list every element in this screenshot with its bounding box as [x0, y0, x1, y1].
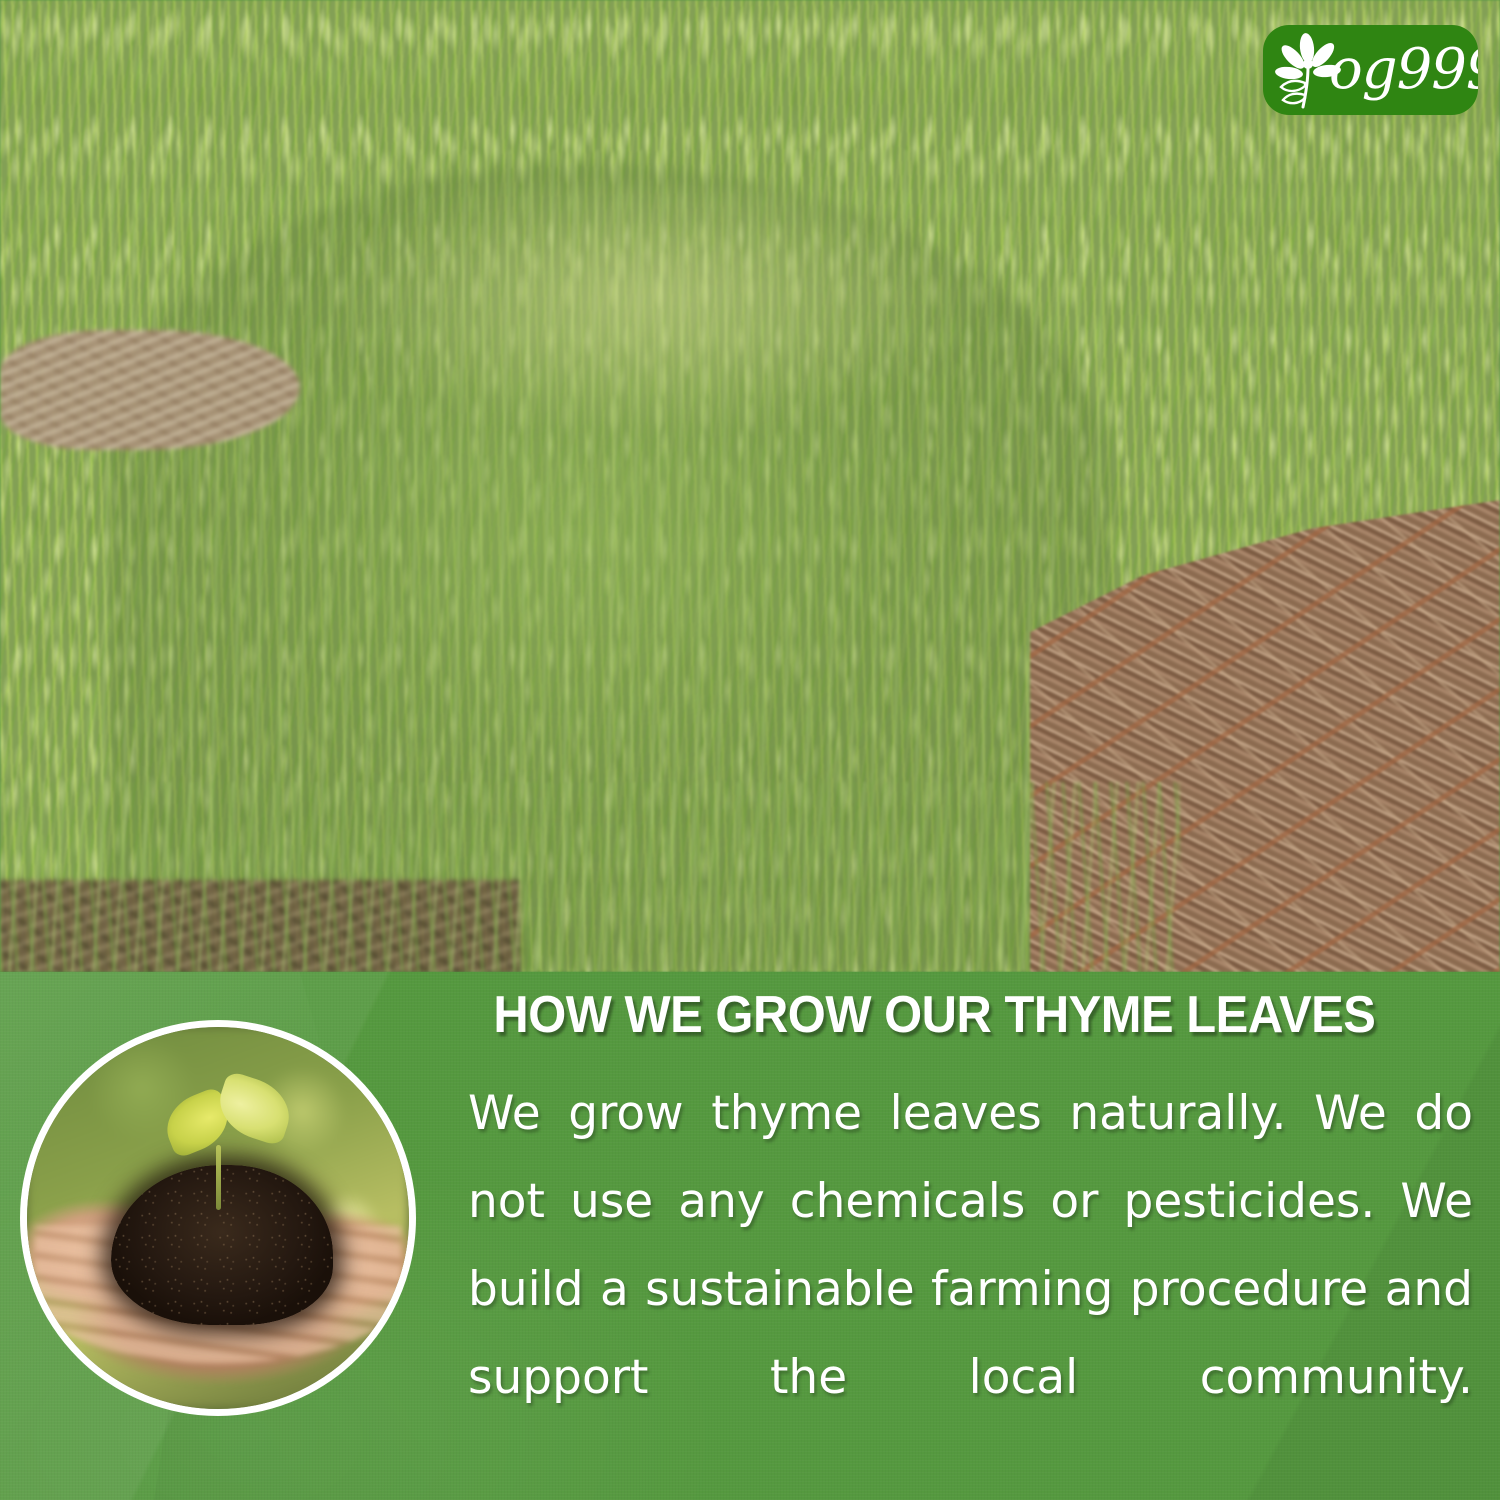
banner-headline: HOW WE GROW OUR THYME LEAVES	[455, 988, 1414, 1043]
seedling-stem	[216, 1145, 221, 1210]
brand-logo[interactable]: og999	[1263, 25, 1478, 115]
hands-holding-seedling-image	[20, 1020, 416, 1416]
logo-wordmark: og999	[1329, 42, 1478, 98]
hero-thyme-field-photo	[0, 0, 1500, 972]
foreground-thyme-overlay	[0, 782, 1180, 972]
sunlight-highlight	[200, 180, 1100, 520]
poster-canvas: og999 HOW WE GROW OUR THYME LEAVES We gr…	[0, 0, 1500, 1500]
banner-body-text: We grow thyme leaves naturally. We do no…	[468, 1070, 1473, 1500]
